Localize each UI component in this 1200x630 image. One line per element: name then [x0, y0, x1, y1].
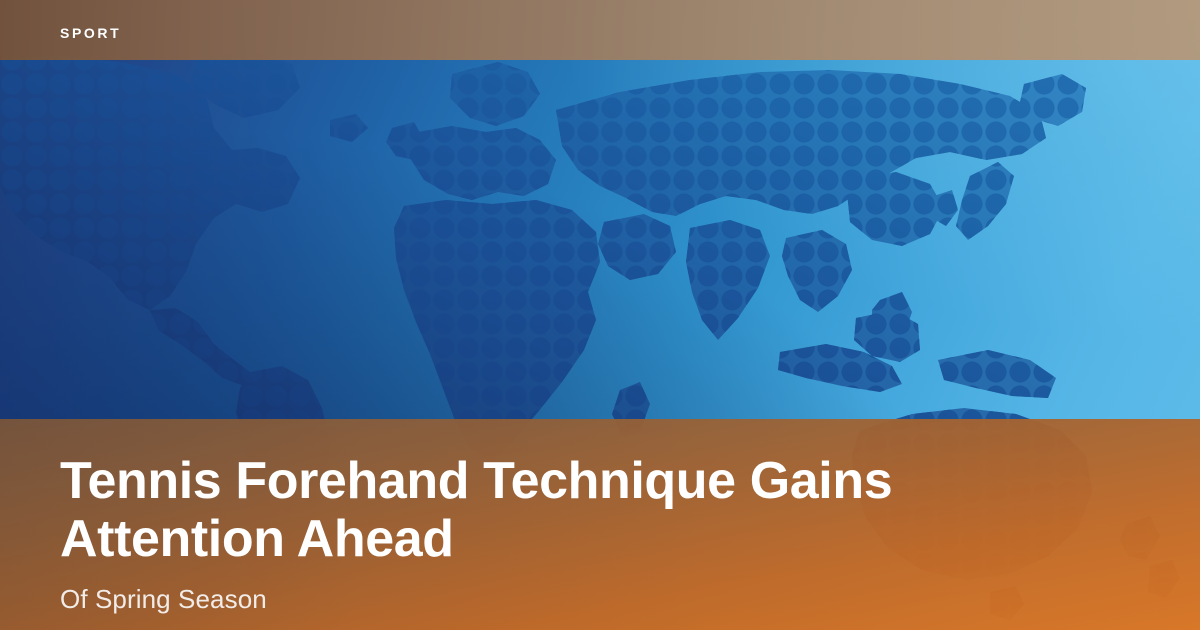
social-share-card: SPORT Tennis Forehand Technique Gains At…	[0, 0, 1200, 630]
headline-title: Tennis Forehand Technique Gains Attentio…	[60, 452, 940, 568]
headline-subtitle: Of Spring Season	[60, 584, 1140, 614]
category-label: SPORT	[60, 26, 121, 40]
headline-block: Tennis Forehand Technique Gains Attentio…	[60, 452, 1140, 614]
category-band: SPORT	[0, 0, 1200, 60]
